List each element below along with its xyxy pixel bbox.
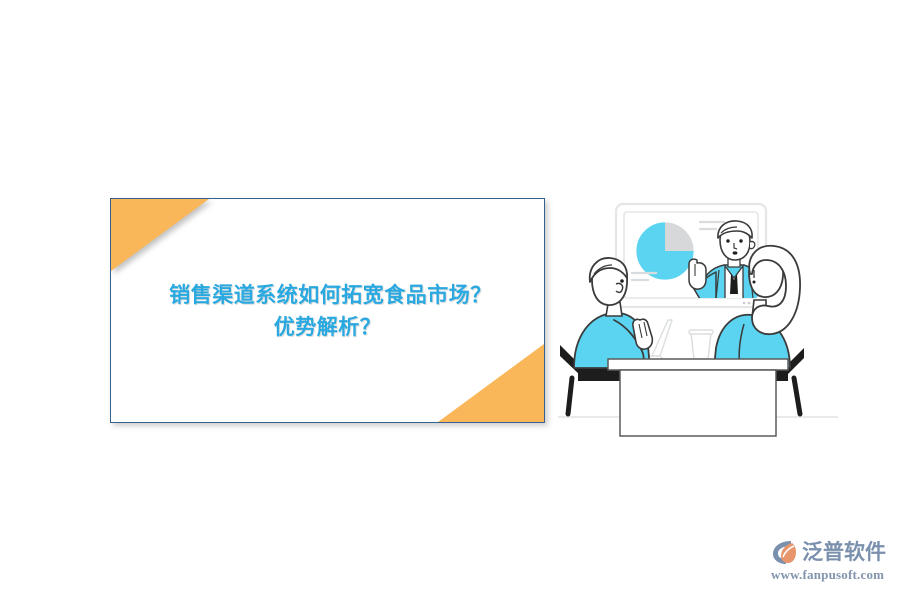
corner-triangle-top-left-icon bbox=[111, 199, 209, 271]
banner-canvas: 销售渠道系统如何拓宽食品市场？ 优势解析？ bbox=[0, 0, 900, 600]
wall-monitor-icon bbox=[616, 204, 766, 307]
page-title-line-1: 销售渠道系统如何拓宽食品市场？ bbox=[117, 279, 544, 311]
drinking-glass-icon bbox=[689, 330, 713, 359]
brand-url: www.fanpusoft.com bbox=[771, 567, 892, 583]
video-conference-illustration bbox=[548, 196, 848, 448]
corner-triangle-bottom-right-icon bbox=[438, 344, 544, 422]
brand-logo-row: 泛普软件 bbox=[770, 536, 892, 568]
page-title-line-2: 优势解析？ bbox=[111, 311, 544, 343]
desk-icon bbox=[608, 359, 788, 436]
title-card: 销售渠道系统如何拓宽食品市场？ 优势解析？ bbox=[110, 198, 545, 423]
brand-logo: 泛普软件 www.fanpusoft.com bbox=[770, 536, 892, 588]
pie-chart-icon bbox=[636, 222, 694, 280]
fanpu-c-mark-icon bbox=[770, 537, 800, 567]
page-title: 销售渠道系统如何拓宽食品市场？ 优势解析？ bbox=[111, 279, 544, 343]
brand-name: 泛普软件 bbox=[802, 537, 886, 567]
